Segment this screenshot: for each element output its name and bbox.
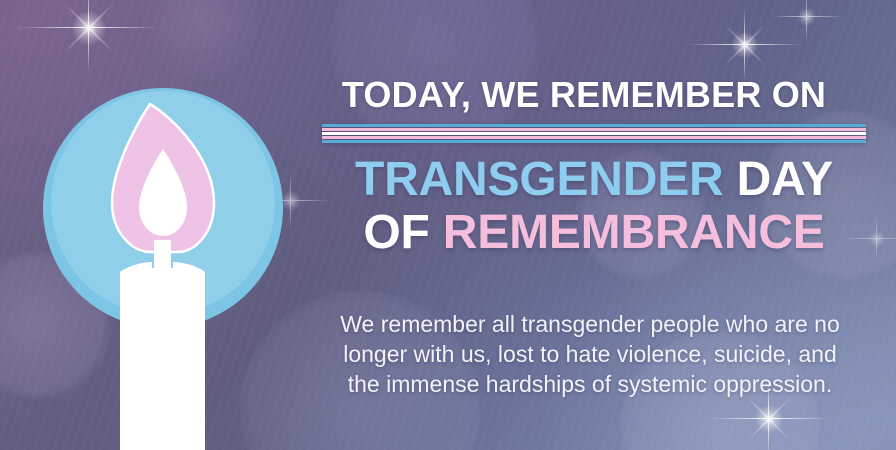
main-headline: TRANSGENDER DAY OF REMEMBRANCE (318, 156, 870, 256)
body-line-2: longer with us, lost to hate violence, s… (314, 340, 866, 370)
memorial-candle-emblem (0, 0, 330, 450)
white-candle-body (120, 262, 205, 450)
headline-transgender: TRANSGENDER (355, 153, 724, 206)
candle-wick (154, 240, 171, 270)
poster-canvas: TODAY, WE REMEMBER ON TRANSGENDER DAY OF… (0, 0, 896, 450)
headline-line-2: OF REMEMBRANCE (318, 209, 870, 256)
headline-remembrance: REMEMBRANCE (443, 206, 825, 259)
headline-day: DAY (737, 153, 833, 206)
body-line-1: We remember all transgender people who a… (314, 310, 866, 340)
transgender-flag-divider (322, 124, 866, 144)
body-paragraph: We remember all transgender people who a… (314, 310, 866, 400)
flag-stripe-blue-bottom (322, 140, 866, 143)
headline-of: OF (363, 206, 429, 259)
eyebrow-heading: TODAY, WE REMEMBER ON (300, 74, 868, 116)
text-column: TODAY, WE REMEMBER ON TRANSGENDER DAY OF… (300, 0, 896, 450)
body-line-3: the immense hardships of systemic oppres… (314, 370, 866, 400)
headline-line-1: TRANSGENDER DAY (355, 153, 833, 206)
